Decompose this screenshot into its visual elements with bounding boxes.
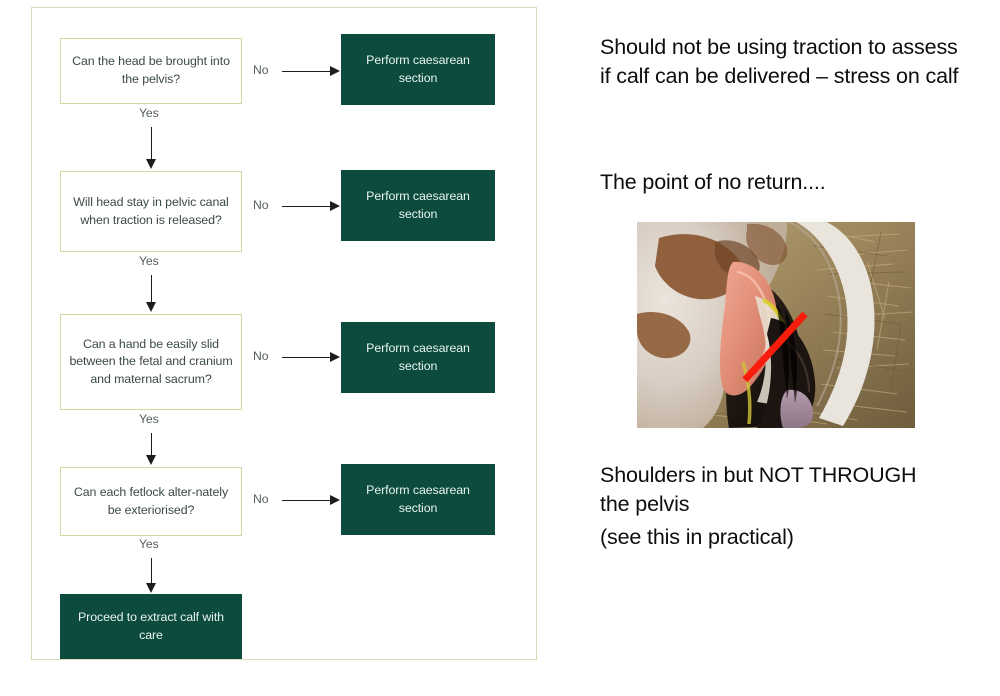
note-point-of-no-return: The point of no return.... bbox=[600, 168, 970, 197]
edge-label-no-3: No bbox=[253, 349, 268, 363]
decision-node-2-text: Will head stay in pelvic canal when trac… bbox=[61, 194, 241, 229]
edge-label-no-4: No bbox=[253, 492, 268, 506]
arrow-no-4 bbox=[282, 495, 340, 505]
action-node-1-text: Perform caesarean section bbox=[341, 52, 495, 88]
arrow-head bbox=[146, 159, 156, 169]
action-node-3: Perform caesarean section bbox=[341, 322, 495, 393]
terminal-node-text: Proceed to extract calf with care bbox=[60, 609, 242, 645]
arrow-head bbox=[330, 66, 340, 76]
arrow-yes-2 bbox=[146, 275, 157, 312]
arrow-shaft bbox=[282, 71, 331, 72]
note-bottom-line-3: (see this in practical) bbox=[600, 523, 980, 552]
terminal-node: Proceed to extract calf with care bbox=[60, 594, 242, 659]
note-top: Should not be using traction to assess i… bbox=[600, 33, 970, 92]
action-node-1: Perform caesarean section bbox=[341, 34, 495, 105]
arrow-no-2 bbox=[282, 201, 340, 211]
decision-node-1: Can the head be brought into the pelvis? bbox=[60, 38, 242, 104]
arrow-head bbox=[330, 495, 340, 505]
arrow-head bbox=[146, 583, 156, 593]
decision-node-4: Can each fetlock alter-nately be exterio… bbox=[60, 467, 242, 536]
decision-node-1-text: Can the head be brought into the pelvis? bbox=[61, 53, 241, 88]
action-node-2-text: Perform caesarean section bbox=[341, 188, 495, 224]
flowchart-panel: Can the head be brought into the pelvis?… bbox=[31, 7, 537, 660]
note-bottom-line-1: Shoulders in but NOT THROUGH bbox=[600, 461, 980, 490]
edge-label-no-2: No bbox=[253, 198, 268, 212]
arrow-shaft bbox=[151, 127, 152, 160]
arrow-head bbox=[146, 302, 156, 312]
arrow-yes-4 bbox=[146, 558, 157, 593]
action-node-4-text: Perform caesarean section bbox=[341, 482, 495, 518]
arrow-shaft bbox=[151, 558, 152, 584]
edge-label-no-1: No bbox=[253, 63, 268, 77]
arrow-no-1 bbox=[282, 66, 340, 76]
arrow-shaft bbox=[282, 206, 331, 207]
edge-label-yes-2: Yes bbox=[139, 254, 159, 268]
arrow-yes-3 bbox=[146, 433, 157, 465]
arrow-yes-1 bbox=[146, 127, 157, 169]
calving-cow-photograph bbox=[637, 222, 915, 428]
arrow-no-3 bbox=[282, 352, 340, 362]
arrow-shaft bbox=[151, 433, 152, 456]
decision-node-4-text: Can each fetlock alter-nately be exterio… bbox=[61, 484, 241, 519]
arrow-shaft bbox=[151, 275, 152, 303]
edge-label-yes-1: Yes bbox=[139, 106, 159, 120]
decision-node-2: Will head stay in pelvic canal when trac… bbox=[60, 171, 242, 252]
edge-label-yes-3: Yes bbox=[139, 412, 159, 426]
edge-label-yes-4: Yes bbox=[139, 537, 159, 551]
decision-node-3: Can a hand be easily slid between the fe… bbox=[60, 314, 242, 410]
arrow-head bbox=[330, 201, 340, 211]
arrow-shaft bbox=[282, 357, 331, 358]
arrow-head bbox=[330, 352, 340, 362]
photo-content bbox=[637, 222, 915, 428]
action-node-3-text: Perform caesarean section bbox=[341, 340, 495, 376]
action-node-4: Perform caesarean section bbox=[341, 464, 495, 535]
decision-node-3-text: Can a hand be easily slid between the fe… bbox=[61, 336, 241, 389]
action-node-2: Perform caesarean section bbox=[341, 170, 495, 241]
arrow-head bbox=[146, 455, 156, 465]
note-bottom-line-2: the pelvis bbox=[600, 490, 980, 519]
arrow-shaft bbox=[282, 500, 331, 501]
